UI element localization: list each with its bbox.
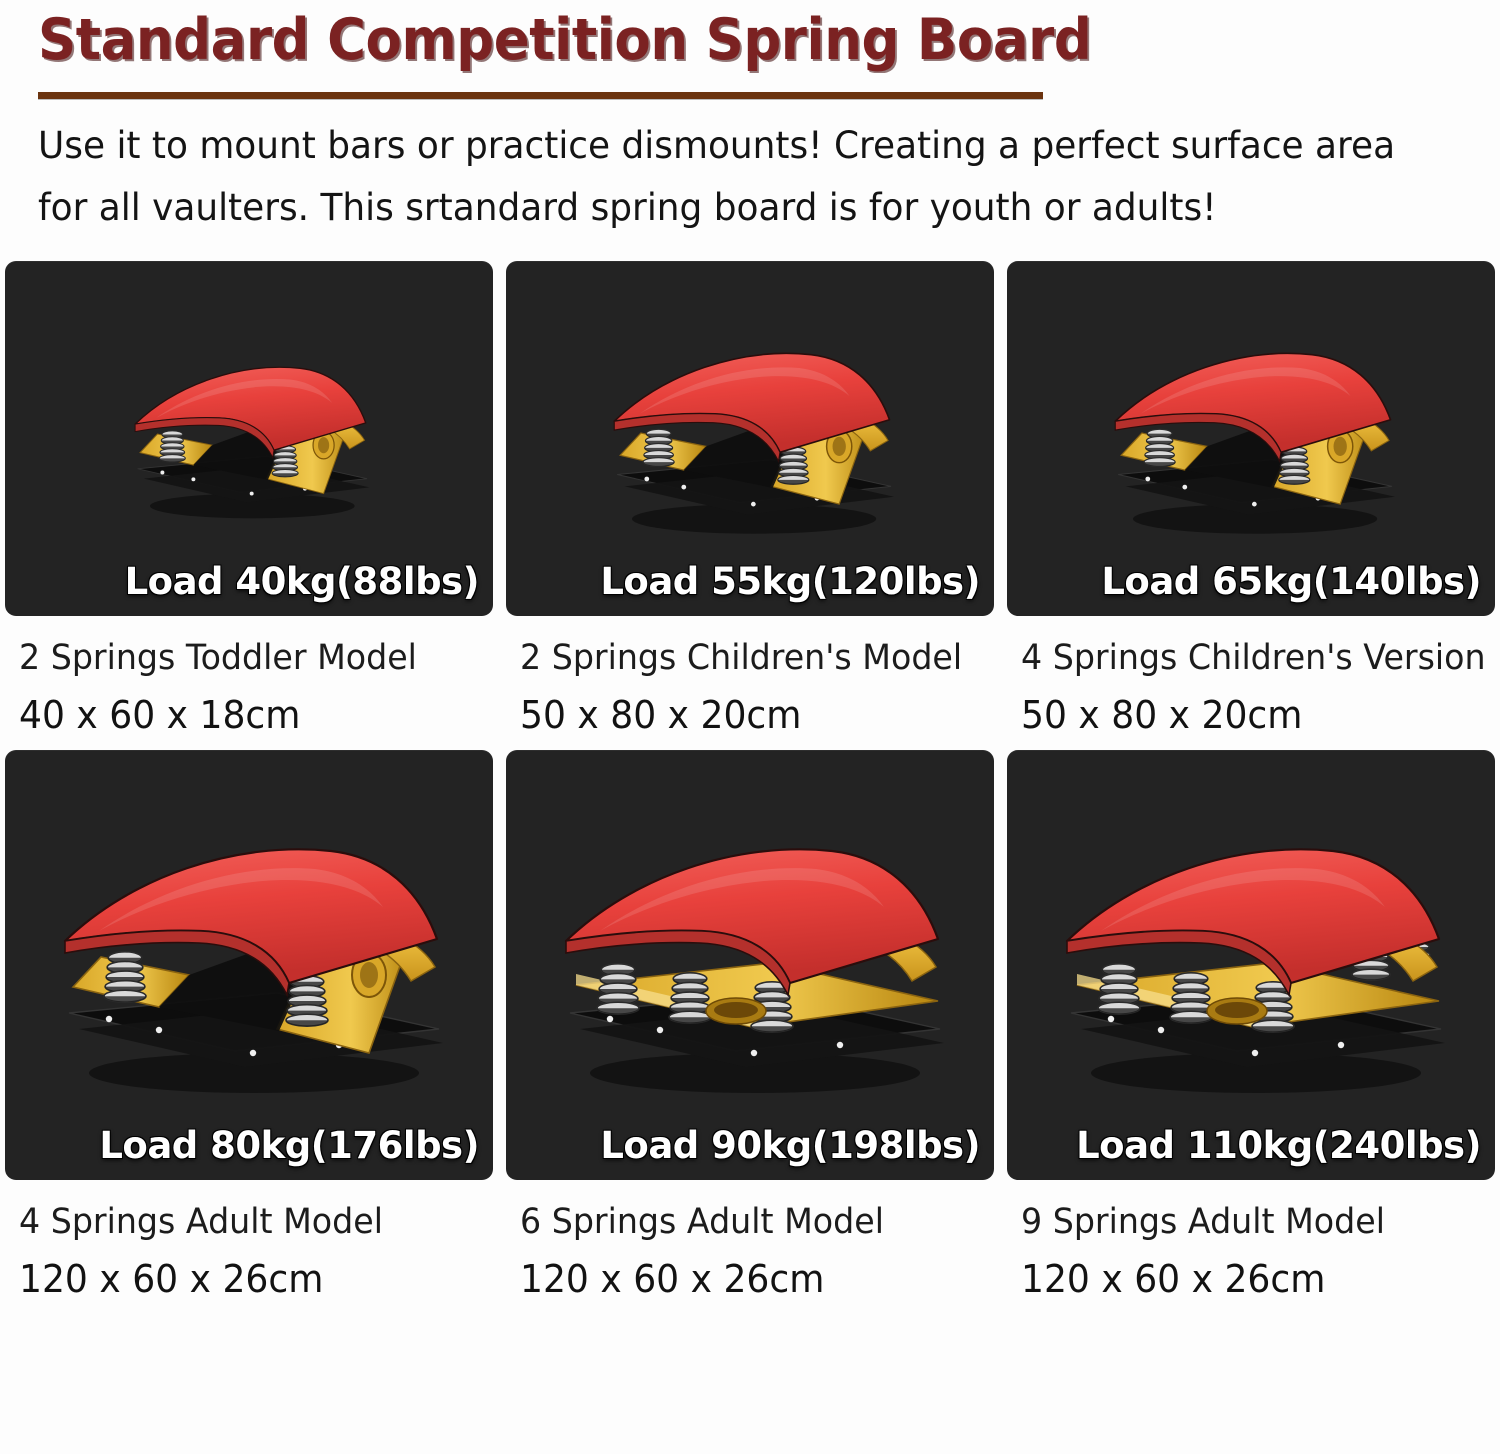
product-dimensions: 120 x 60 x 26cm (520, 1248, 970, 1310)
load-badge: Load 65kg(140lbs) (1101, 562, 1481, 602)
product-infographic: Standard Competition Spring Board Use it… (0, 0, 1500, 1454)
spring-board-illustration (1007, 750, 1495, 1180)
product-card[interactable]: Load 55kg(120lbs) (506, 261, 994, 616)
load-badge: Load 110kg(240lbs) (1076, 1126, 1481, 1166)
product-caption: 2 Springs Toddler Model 40 x 60 x 18cm (5, 616, 493, 746)
product-model-name: 9 Springs Adult Model (1021, 1196, 1471, 1248)
product-model-name: 4 Springs Adult Model (19, 1196, 469, 1248)
product-cell: Load 80kg(176lbs) 4 Springs Adult Model … (5, 750, 493, 1310)
product-caption: 4 Springs Adult Model 120 x 60 x 26cm (5, 1180, 493, 1310)
load-badge: Load 80kg(176lbs) (99, 1126, 479, 1166)
product-cell: Load 110kg(240lbs) 9 Springs Adult Model… (1007, 750, 1495, 1310)
product-row-bottom: Load 80kg(176lbs) 4 Springs Adult Model … (5, 750, 1495, 1310)
load-badge: Load 90kg(198lbs) (600, 1126, 980, 1166)
product-cell: Load 55kg(120lbs) 2 Springs Children's M… (506, 261, 994, 746)
spring-board-illustration (506, 750, 994, 1180)
product-cell: Load 40kg(88lbs) 2 Springs Toddler Model… (5, 261, 493, 746)
load-badge: Load 55kg(120lbs) (600, 562, 980, 602)
product-model-name: 2 Springs Children's Model (520, 632, 970, 684)
title-divider (38, 92, 1043, 99)
product-model-name: 4 Springs Children's Version (1021, 632, 1471, 684)
page-title: Standard Competition Spring Board (38, 4, 1398, 72)
product-card[interactable]: Load 65kg(140lbs) (1007, 261, 1495, 616)
product-card[interactable]: Load 40kg(88lbs) (5, 261, 493, 616)
product-grid: Load 40kg(88lbs) 2 Springs Toddler Model… (5, 261, 1495, 1310)
product-dimensions: 50 x 80 x 20cm (520, 684, 970, 746)
product-model-name: 2 Springs Toddler Model (19, 632, 469, 684)
product-card[interactable]: Load 90kg(198lbs) (506, 750, 994, 1180)
product-dimensions: 50 x 80 x 20cm (1021, 684, 1471, 746)
spring-board-illustration (5, 750, 493, 1180)
product-caption: 4 Springs Children's Version 50 x 80 x 2… (1007, 616, 1495, 746)
intro-paragraph: Use it to mount bars or practice dismoun… (38, 115, 1425, 239)
product-caption: 2 Springs Children's Model 50 x 80 x 20c… (506, 616, 994, 746)
product-row-top: Load 40kg(88lbs) 2 Springs Toddler Model… (5, 261, 1495, 746)
load-badge: Load 40kg(88lbs) (125, 562, 479, 602)
product-caption: 6 Springs Adult Model 120 x 60 x 26cm (506, 1180, 994, 1310)
product-card[interactable]: Load 80kg(176lbs) (5, 750, 493, 1180)
product-cell: Load 90kg(198lbs) 6 Springs Adult Model … (506, 750, 994, 1310)
header: Standard Competition Spring Board Use it… (0, 0, 1500, 239)
product-caption: 9 Springs Adult Model 120 x 60 x 26cm (1007, 1180, 1495, 1310)
product-cell: Load 65kg(140lbs) 4 Springs Children's V… (1007, 261, 1495, 746)
product-card[interactable]: Load 110kg(240lbs) (1007, 750, 1495, 1180)
product-dimensions: 40 x 60 x 18cm (19, 684, 469, 746)
product-model-name: 6 Springs Adult Model (520, 1196, 970, 1248)
product-dimensions: 120 x 60 x 26cm (19, 1248, 469, 1310)
product-dimensions: 120 x 60 x 26cm (1021, 1248, 1471, 1310)
